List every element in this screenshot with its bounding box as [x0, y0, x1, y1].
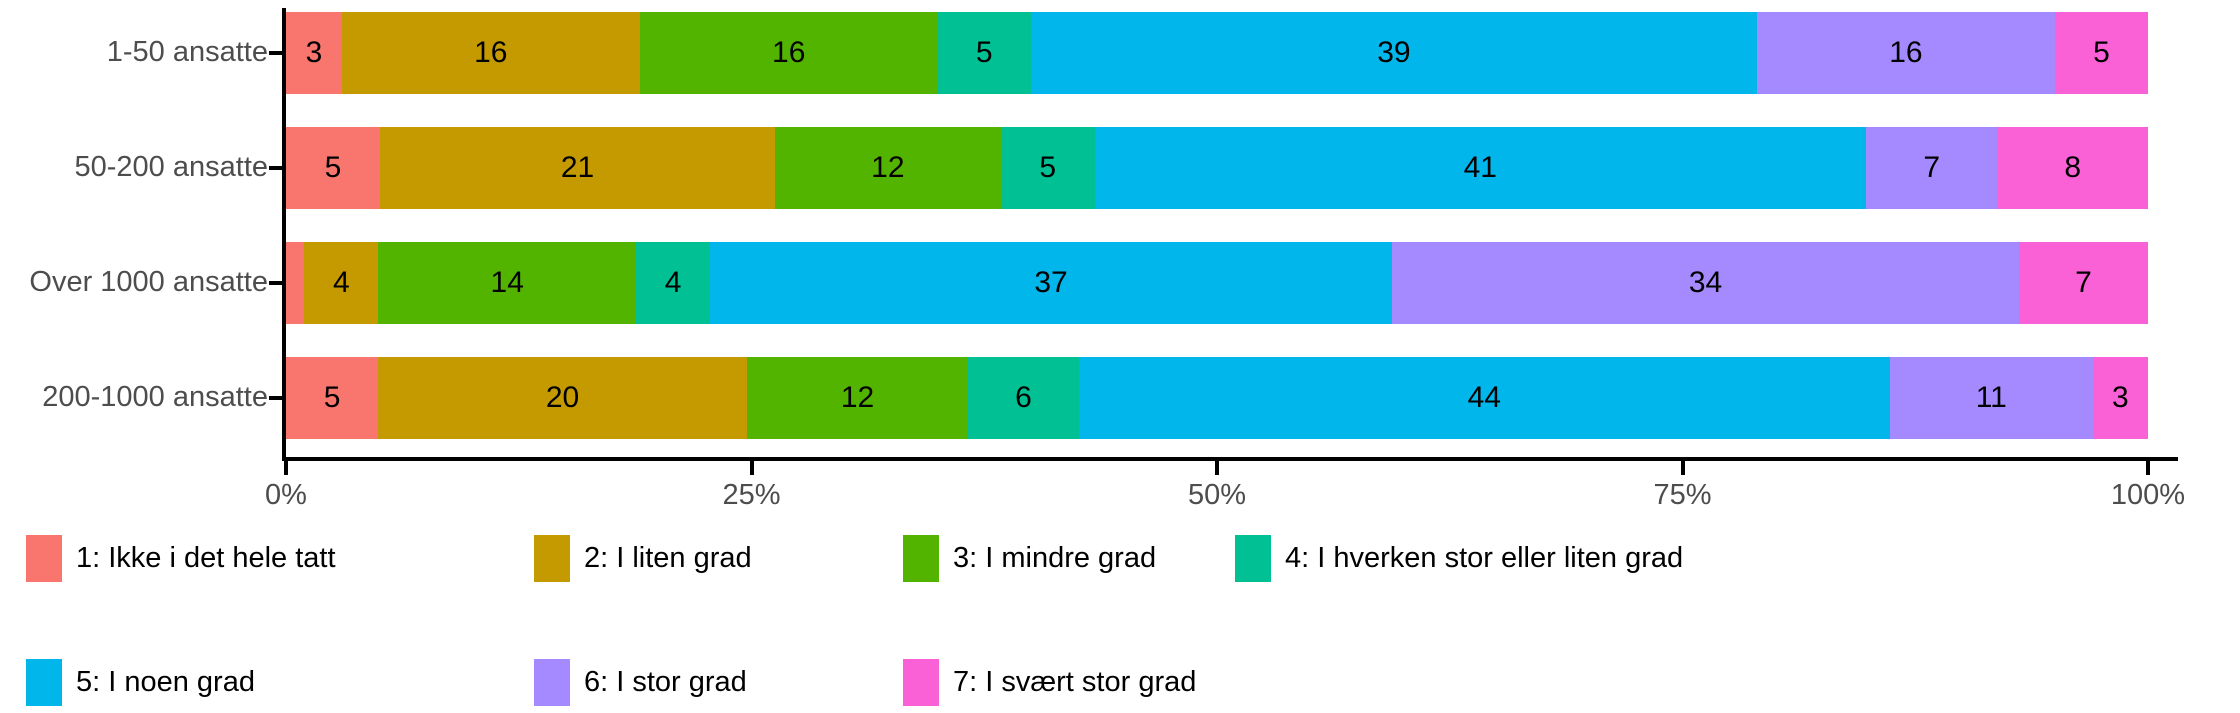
x-axis-line — [282, 457, 2178, 461]
bar-segment-value: 41 — [1464, 153, 1497, 183]
bar-segment-value: 16 — [1889, 38, 1922, 68]
x-tick-mark — [284, 461, 288, 475]
bar-segment[interactable]: 37 — [710, 242, 1392, 324]
bar-segment[interactable]: 6 — [968, 357, 1079, 439]
bar-segment[interactable]: 16 — [1757, 12, 2055, 94]
bar-row: 5211254178 — [0, 127, 2240, 209]
bar-segment-value: 39 — [1377, 38, 1410, 68]
bar-segment-value: 3 — [306, 38, 323, 68]
legend-item[interactable]: 1: Ikke i det hele tatt — [26, 527, 336, 589]
bar-segment[interactable]: 5 — [286, 127, 380, 209]
bar-segment[interactable]: 3 — [2093, 357, 2148, 439]
x-tick-mark — [1681, 461, 1685, 475]
bar-segment[interactable]: 12 — [747, 357, 968, 439]
bar-segment[interactable]: 21 — [380, 127, 775, 209]
bar-segment[interactable] — [286, 242, 304, 324]
bar-segment[interactable]: 4 — [636, 242, 710, 324]
legend-item[interactable]: 4: I hverken stor eller liten grad — [1235, 527, 1683, 589]
bar-segment[interactable]: 8 — [1998, 127, 2148, 209]
legend-item[interactable]: 2: I liten grad — [534, 527, 752, 589]
legend-swatch-icon — [1235, 535, 1271, 582]
bar-segment[interactable]: 20 — [378, 357, 747, 439]
x-tick-label: 100% — [2111, 481, 2185, 510]
bar-row: 414437347 — [0, 242, 2240, 324]
bar-segment[interactable]: 34 — [1392, 242, 2019, 324]
legend-label: 6: I stor grad — [584, 668, 747, 697]
bar-segment[interactable]: 5 — [286, 357, 378, 439]
bar-segment-value: 7 — [2075, 268, 2092, 298]
bar-segment-value: 5 — [324, 383, 341, 413]
legend-swatch-icon — [534, 659, 570, 706]
bar-segment[interactable]: 16 — [640, 12, 938, 94]
legend-label: 2: I liten grad — [584, 544, 752, 573]
x-tick-label: 0% — [265, 481, 307, 510]
legend-item[interactable]: 3: I mindre grad — [903, 527, 1156, 589]
bar-segment[interactable]: 16 — [342, 12, 640, 94]
bar-segment-value: 3 — [2112, 383, 2129, 413]
legend-swatch-icon — [903, 535, 939, 582]
stacked-bar-chart: 1-50 ansatte50-200 ansatteOver 1000 ansa… — [0, 0, 2240, 707]
legend-swatch-icon — [903, 659, 939, 706]
bar-row: 31616539165 — [0, 12, 2240, 94]
plot-panel: 1-50 ansatte50-200 ansatteOver 1000 ansa… — [0, 0, 2240, 500]
bar-segment[interactable]: 7 — [2019, 242, 2148, 324]
bar-segment[interactable]: 4 — [304, 242, 378, 324]
bar-segment[interactable]: 11 — [1890, 357, 2093, 439]
x-tick-mark — [1215, 461, 1219, 475]
bar-segment[interactable]: 7 — [1866, 127, 1998, 209]
bar-segment-value: 4 — [333, 268, 350, 298]
bar-segment[interactable]: 5 — [2055, 12, 2148, 94]
bar-segment[interactable]: 39 — [1031, 12, 1757, 94]
bar-segment[interactable]: 44 — [1079, 357, 1890, 439]
x-tick-label: 75% — [1653, 481, 1711, 510]
bar-segment-value: 20 — [546, 383, 579, 413]
bar-segment-value: 34 — [1689, 268, 1722, 298]
bar-segment-value: 4 — [665, 268, 682, 298]
legend-label: 7: I svært stor grad — [953, 668, 1196, 697]
bar-segment-value: 21 — [561, 153, 594, 183]
legend-item[interactable]: 6: I stor grad — [534, 651, 747, 713]
legend-item[interactable]: 5: I noen grad — [26, 651, 255, 713]
legend-label: 4: I hverken stor eller liten grad — [1285, 544, 1683, 573]
bar-segment-value: 6 — [1015, 383, 1032, 413]
bar-segment-value: 12 — [841, 383, 874, 413]
x-tick-label: 50% — [1188, 481, 1246, 510]
bar-segment-value: 8 — [2064, 153, 2081, 183]
bar-segment-value: 16 — [772, 38, 805, 68]
bar-segment-value: 5 — [2093, 38, 2110, 68]
bar-segment[interactable]: 3 — [286, 12, 342, 94]
bar-segment-value: 14 — [491, 268, 524, 298]
bar-segment-value: 12 — [871, 153, 904, 183]
x-tick-label: 25% — [722, 481, 780, 510]
legend-row: 5: I noen grad6: I stor grad7: I svært s… — [26, 589, 2216, 651]
bar-segment-value: 7 — [1923, 153, 1940, 183]
bar-segment-value: 5 — [1039, 153, 1056, 183]
bar-segment-value: 5 — [325, 153, 342, 183]
legend-swatch-icon — [534, 535, 570, 582]
bar-segment-value: 37 — [1034, 268, 1067, 298]
x-tick-mark — [750, 461, 754, 475]
bar-segment[interactable]: 5 — [1001, 127, 1095, 209]
legend-label: 5: I noen grad — [76, 668, 255, 697]
bar-segment-value: 44 — [1468, 383, 1501, 413]
bar-row: 52012644113 — [0, 357, 2240, 439]
legend-label: 3: I mindre grad — [953, 544, 1156, 573]
bar-segment[interactable]: 41 — [1095, 127, 1866, 209]
bar-segment-value: 16 — [474, 38, 507, 68]
legend-swatch-icon — [26, 659, 62, 706]
bar-segment[interactable]: 12 — [775, 127, 1001, 209]
bar-segment[interactable]: 5 — [938, 12, 1031, 94]
legend-row: 1: Ikke i det hele tatt2: I liten grad3:… — [26, 527, 2216, 589]
chart-legend: 1: Ikke i det hele tatt2: I liten grad3:… — [26, 527, 2216, 651]
legend-item[interactable]: 7: I svært stor grad — [903, 651, 1196, 713]
bar-segment-value: 5 — [976, 38, 993, 68]
x-tick-mark — [2146, 461, 2150, 475]
legend-label: 1: Ikke i det hele tatt — [76, 544, 336, 573]
bar-segment-value: 11 — [1976, 383, 2007, 413]
bar-segment[interactable]: 14 — [378, 242, 636, 324]
legend-swatch-icon — [26, 535, 62, 582]
